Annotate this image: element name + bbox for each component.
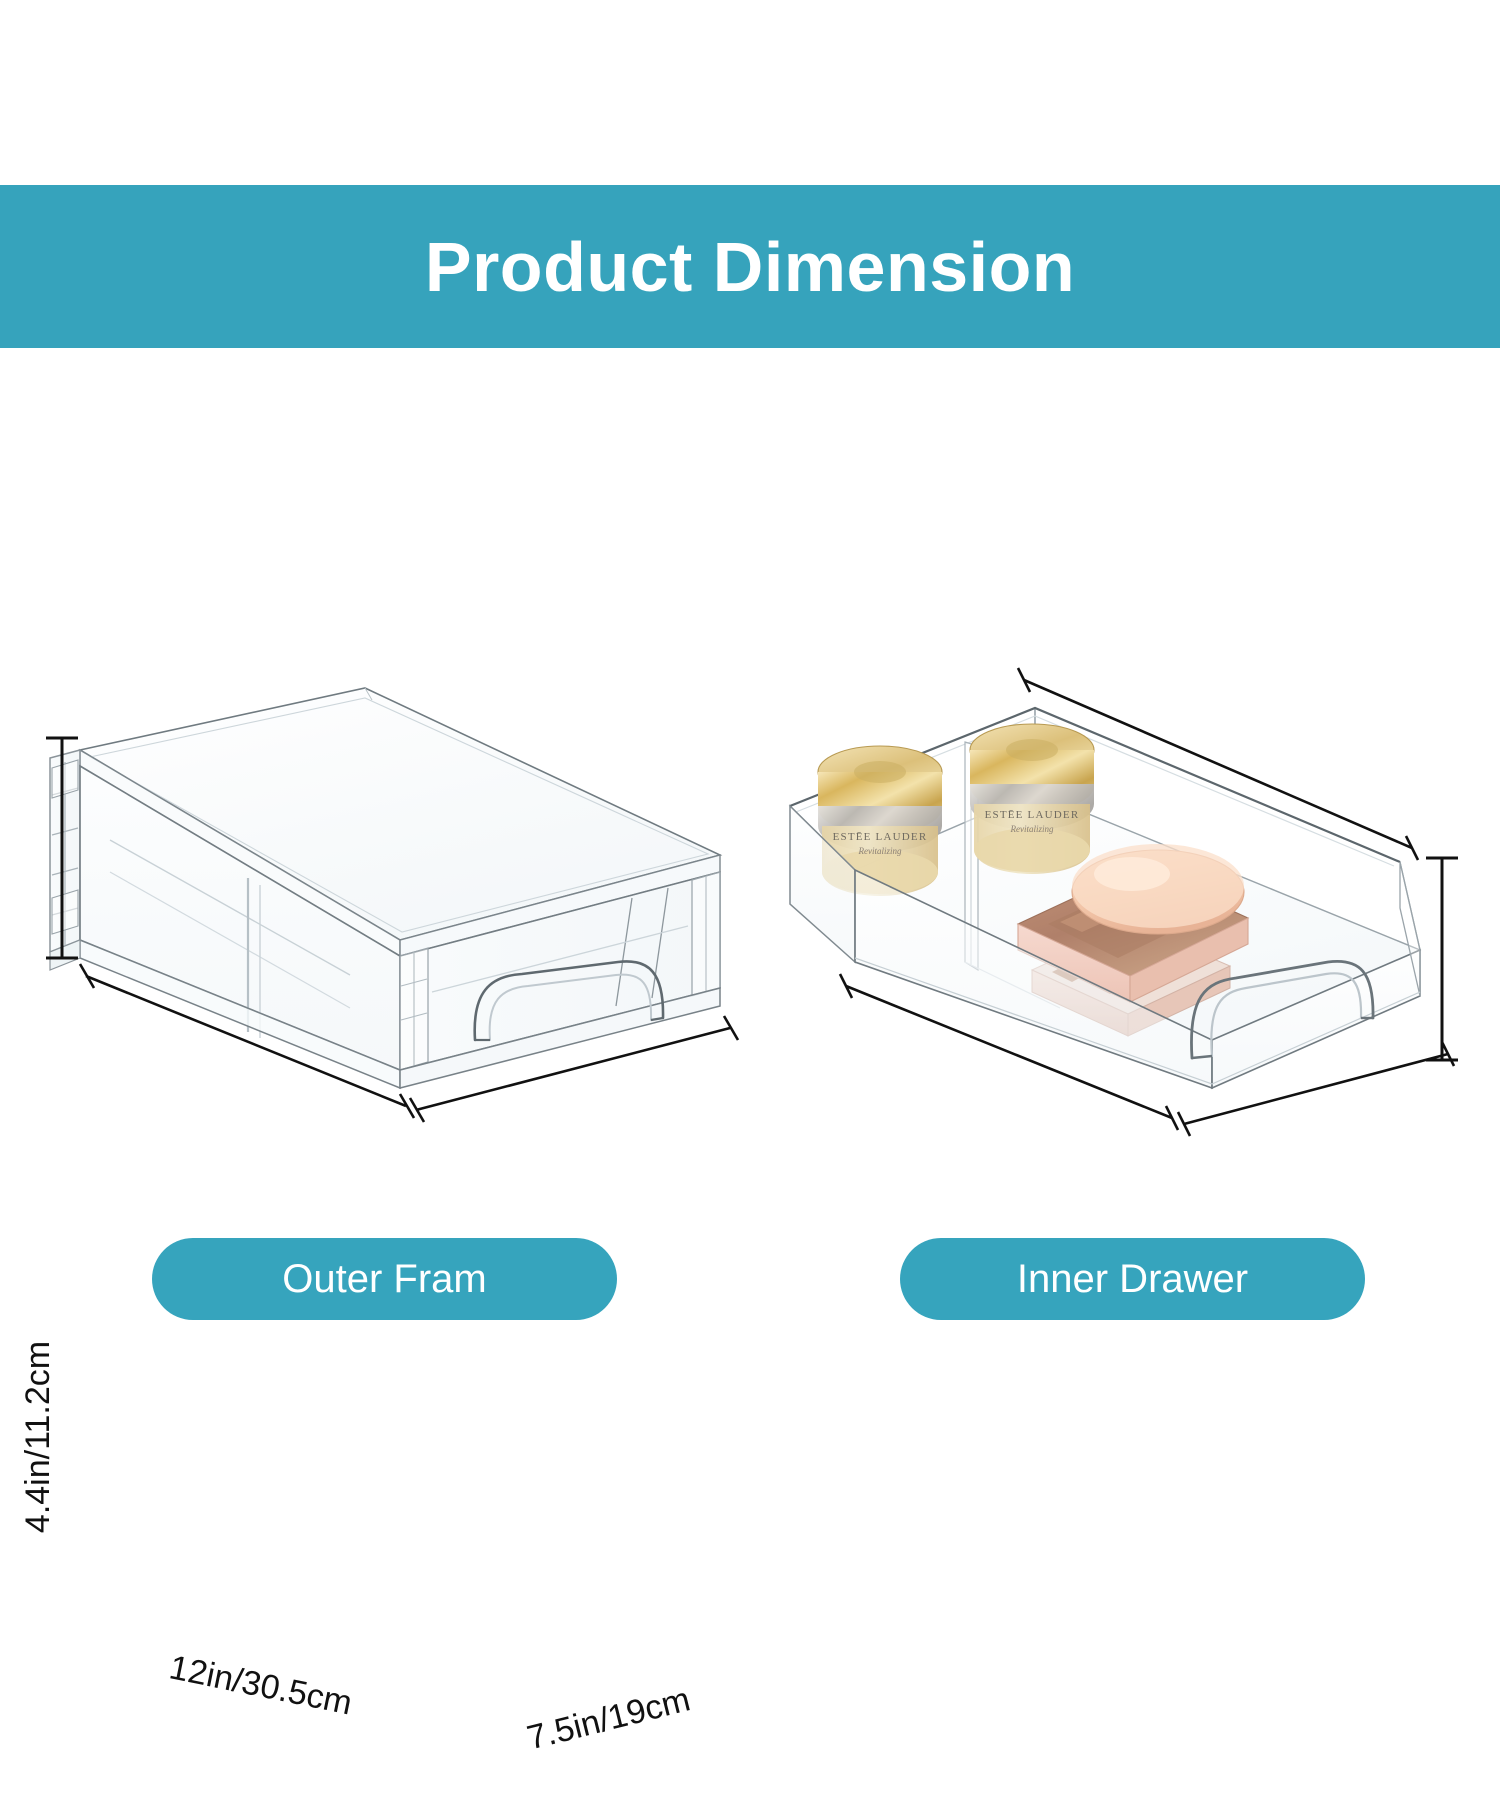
outer-frame-illustration (20, 640, 750, 1160)
svg-text:Revitalizing: Revitalizing (1010, 824, 1054, 834)
infographic-page: Product Dimension (0, 0, 1500, 1500)
outer-frame-left-panel (50, 750, 80, 952)
header-banner: Product Dimension (0, 185, 1500, 348)
inner-drawer-panel: ESTĒE LAUDER Revitalizing ESTĒE LAUDER R… (760, 640, 1490, 1160)
outer-frame-pill-label: Outer Fram (152, 1238, 617, 1320)
dimension-label-outer-depth: 7.5in/19cm (524, 1682, 694, 1755)
powder-puff (1072, 844, 1244, 934)
svg-text:Revitalizing: Revitalizing (858, 846, 902, 856)
outer-frame-pill-text: Outer Fram (282, 1259, 486, 1299)
dimension-label-outer-height: 4.4in/11.2cm (21, 1341, 55, 1533)
outer-frame-panel: 4.4in/11.2cm 12in/30.5cm 7.5in/19cm (20, 640, 750, 1160)
inner-drawer-pill-text: Inner Drawer (1017, 1259, 1248, 1299)
page-title: Product Dimension (425, 232, 1075, 302)
inner-drawer-pill-label: Inner Drawer (900, 1238, 1365, 1320)
inner-drawer-illustration: ESTĒE LAUDER Revitalizing ESTĒE LAUDER R… (760, 640, 1490, 1160)
svg-text:ESTĒE LAUDER: ESTĒE LAUDER (833, 831, 928, 843)
cosmetic-jar-right: ESTĒE LAUDER Revitalizing (970, 724, 1094, 874)
svg-text:ESTĒE LAUDER: ESTĒE LAUDER (985, 809, 1080, 821)
dimension-label-outer-width: 12in/30.5cm (167, 1650, 355, 1720)
dimension-line-inner-height (1426, 858, 1458, 1060)
